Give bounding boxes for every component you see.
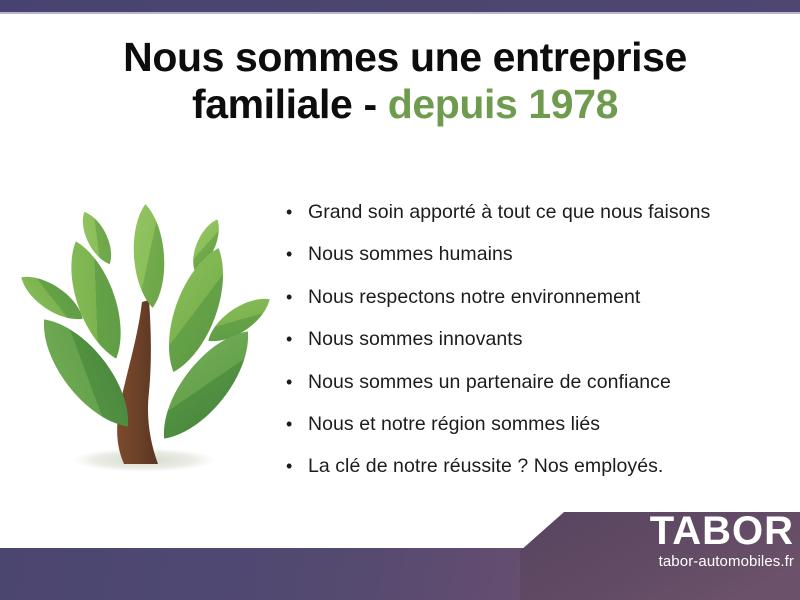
- tree-trunk: [117, 300, 158, 464]
- leaf-lower-right: [147, 318, 265, 452]
- title-accent-segment: depuis 1978: [388, 81, 618, 127]
- list-item: • Grand soin apporté à tout ce que nous …: [286, 191, 766, 233]
- top-border-hairline: [0, 12, 800, 14]
- list-item-label: Nous sommes un partenaire de confiance: [308, 361, 766, 403]
- value-bullet-list: • Grand soin apporté à tout ce que nous …: [286, 191, 766, 488]
- bullet-marker-icon: •: [286, 403, 308, 445]
- bullet-marker-icon: •: [286, 191, 308, 233]
- list-item-label: Nous sommes humains: [308, 233, 766, 275]
- brand-wordmark: TABOR: [594, 511, 794, 551]
- list-item: • Nous sommes humains: [286, 233, 766, 275]
- page-title: Nous sommes une entreprise familiale - d…: [60, 34, 750, 127]
- list-item: • Nous respectons notre environnement: [286, 276, 766, 318]
- leaf-top-center: [130, 203, 167, 309]
- brand-tagline: tabor-automobiles.fr: [594, 552, 794, 572]
- list-item: • Nous et notre région sommes liés: [286, 403, 766, 445]
- list-item-label: La clé de notre réussite ? Nos employés.: [308, 445, 766, 487]
- list-item: • Nous sommes un partenaire de confiance: [286, 361, 766, 403]
- bullet-marker-icon: •: [286, 233, 308, 275]
- list-item-label: Nous et notre région sommes liés: [308, 403, 766, 445]
- list-item-label: Nous respectons notre environnement: [308, 276, 766, 318]
- brand-logo[interactable]: TABOR tabor-automobiles.fr: [594, 511, 794, 572]
- list-item-label: Nous sommes innovants: [308, 318, 766, 360]
- list-item: • Nous sommes innovants: [286, 318, 766, 360]
- slide-canvas: Nous sommes une entreprise familiale - d…: [0, 0, 800, 600]
- list-item: • La clé de notre réussite ? Nos employé…: [286, 445, 766, 487]
- leaf-lower-left: [27, 306, 145, 440]
- title-line-secondary: familiale - depuis 1978: [60, 81, 750, 128]
- list-item-label: Grand soin apporté à tout ce que nous fa…: [308, 191, 766, 233]
- top-accent-border: [0, 0, 800, 12]
- bullet-marker-icon: •: [286, 276, 308, 318]
- tree-icon: [18, 188, 270, 490]
- bullet-marker-icon: •: [286, 445, 308, 487]
- title-line-primary: Nous sommes une entreprise: [60, 34, 750, 81]
- bullet-marker-icon: •: [286, 318, 308, 360]
- title-plain-segment: familiale -: [192, 81, 388, 127]
- bullet-marker-icon: •: [286, 361, 308, 403]
